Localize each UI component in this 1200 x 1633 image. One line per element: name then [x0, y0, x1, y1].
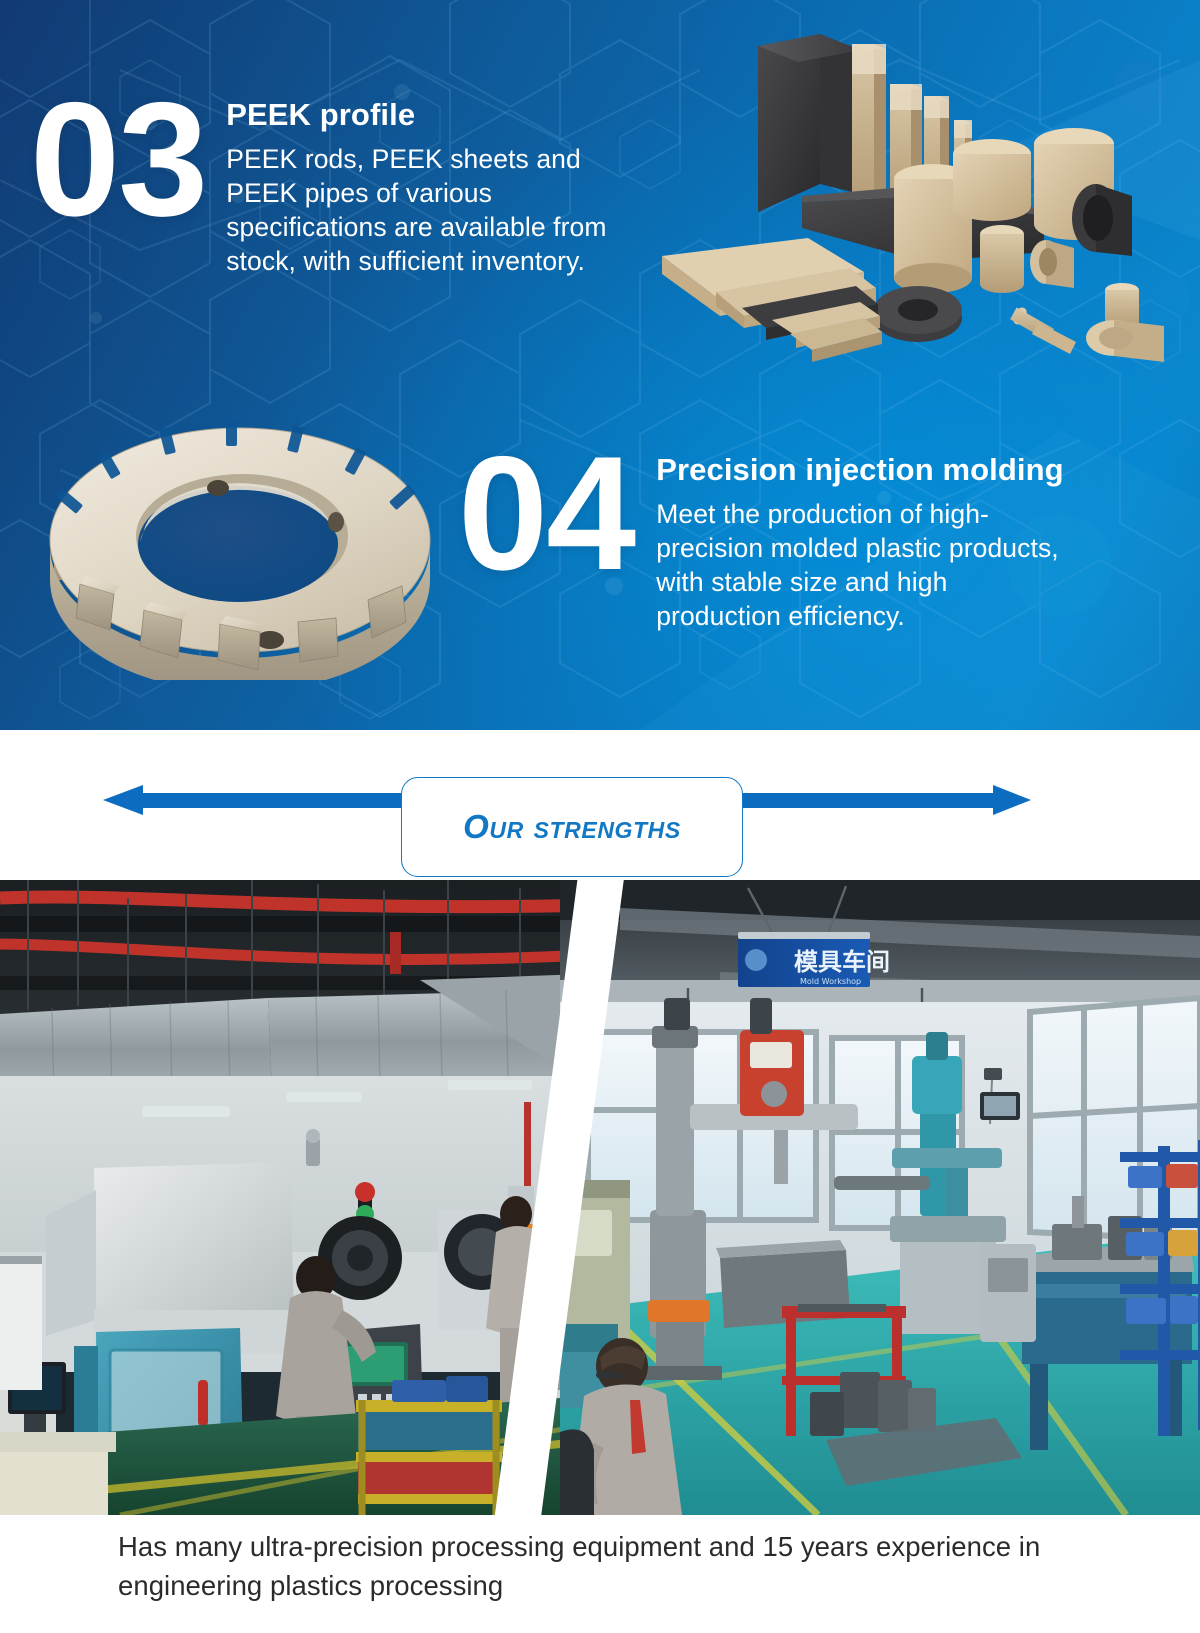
our-strengths-label: Our strengths [463, 808, 681, 846]
feature-number-03: 03 [30, 92, 206, 228]
feature-title-03: PEEK profile [226, 98, 638, 133]
peek-profiles-photo [624, 16, 1192, 364]
our-strengths-banner: Our strengths [0, 730, 1200, 880]
feature-description-04: Meet the production of high-precision mo… [656, 497, 1074, 634]
feature-item-04: 04 Precision injection molding Meet the … [458, 446, 1074, 633]
strengths-caption: Has many ultra-precision processing equi… [118, 1527, 1098, 1605]
our-strengths-label-box: Our strengths [401, 777, 743, 877]
mold-workshop-photo: 模具车间 Mold Workshop [560, 880, 1200, 1515]
features-blue-panel: 03 PEEK profile PEEK rods, PEEK sheets a… [0, 0, 1200, 730]
feature-number-04: 04 [458, 446, 634, 582]
svg-text:Mold Workshop: Mold Workshop [800, 977, 861, 986]
factory-photo-strip: 模具车间 Mold Workshop [0, 880, 1200, 1515]
feature-title-04: Precision injection molding [656, 453, 1074, 488]
peek-gear-ring-photo [34, 392, 446, 680]
svg-text:模具车间: 模具车间 [794, 948, 890, 976]
feature-description-03: PEEK rods, PEEK sheets and PEEK pipes of… [226, 142, 638, 279]
feature-item-03: 03 PEEK profile PEEK rods, PEEK sheets a… [30, 92, 638, 278]
